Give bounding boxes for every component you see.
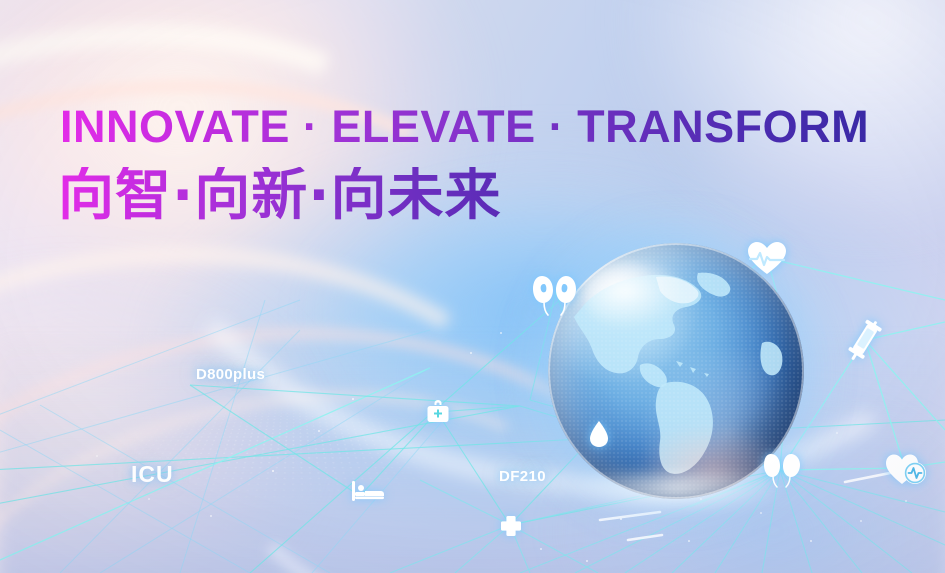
- promotional-banner: INNOVATE · ELEVATE · TRANSFORM 向智·向新·向未来…: [0, 0, 945, 573]
- globe-base-glow: [568, 471, 784, 515]
- label-df210: DF210: [499, 468, 546, 485]
- page-title-headline: INNOVATE · ELEVATE · TRANSFORM: [60, 104, 869, 149]
- heart-pulse-icon: [885, 452, 927, 486]
- medical-cross-icon: [500, 515, 522, 537]
- medical-bag-icon: [426, 400, 450, 424]
- label-d800plus: D800plus: [196, 366, 265, 383]
- kidneys-icon: [528, 272, 584, 318]
- label-icu: ICU: [131, 461, 174, 488]
- water-drop-icon: [588, 420, 610, 448]
- page-subtitle-chinese: 向智·向新·向未来: [58, 167, 502, 226]
- hospital-bed-icon: [352, 480, 384, 502]
- kidneys-icon: [760, 452, 804, 488]
- heart-ecg-icon: [747, 240, 787, 276]
